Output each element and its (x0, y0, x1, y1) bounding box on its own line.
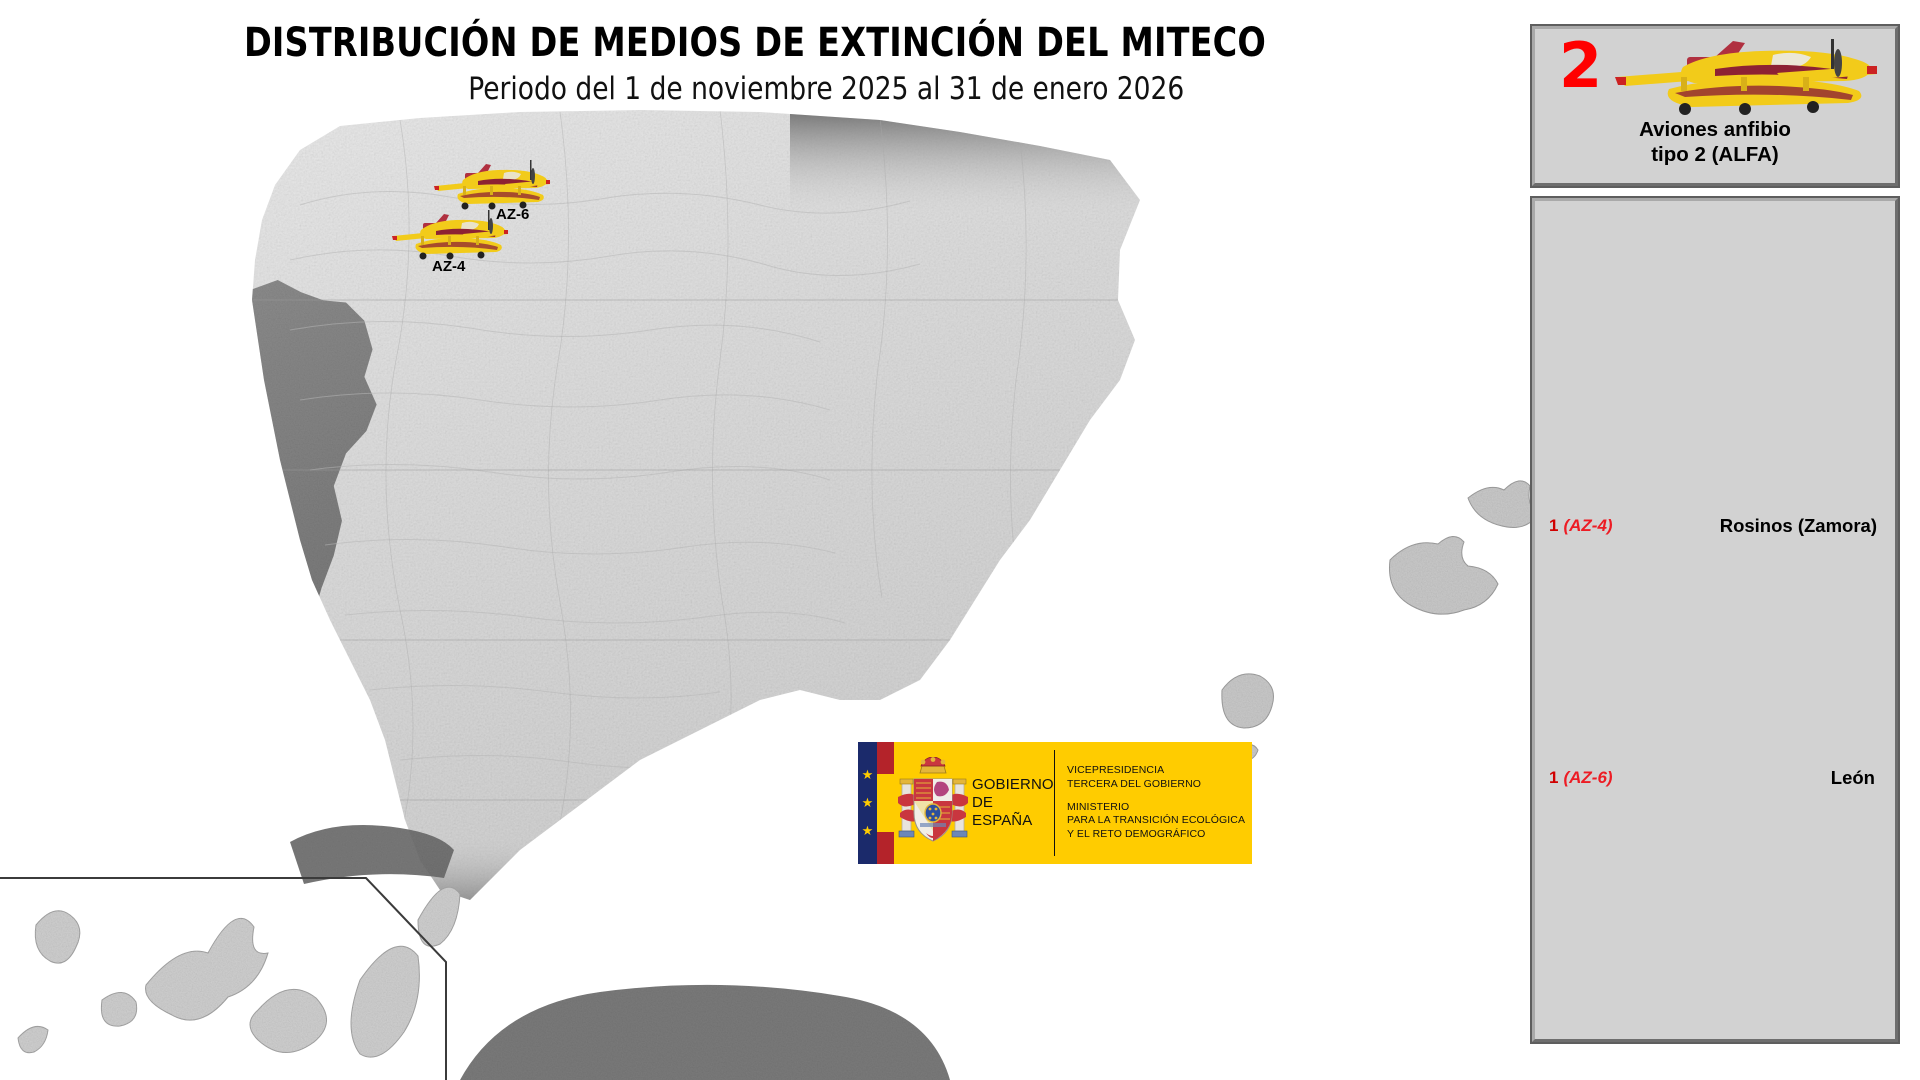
logo-gobierno-line1: GOBIERNO (972, 776, 1054, 794)
legend-row-qty: 1 (1549, 768, 1558, 788)
gobierno-de-espana-logo: ★ ★ ★ (858, 742, 1252, 864)
logo-vice-line2: TERCERA DEL GOBIERNO (1067, 778, 1252, 792)
legend-header-title: Aviones anfibio tipo 2 (ALFA) (1545, 117, 1885, 167)
map-canvas[interactable]: DISTRIBUCIÓN DE MEDIOS DE EXTINCIÓN DEL … (0, 0, 1530, 1080)
legend-row[interactable]: 1 (AZ-4) Rosinos (Zamora) (1535, 511, 1895, 541)
legend-title-line1: Aviones anfibio (1545, 117, 1885, 142)
iberia-relief-map (0, 0, 1530, 1080)
map-marker-label: AZ-4 (432, 258, 465, 275)
map-marker-az-4[interactable]: AZ-4 (388, 208, 508, 270)
logo-min-line2: PARA LA TRANSICIÓN ECOLÓGICA (1067, 814, 1252, 828)
logo-ministry-text: VICEPRESIDENCIA TERCERA DEL GOBIERNO MIN… (1055, 742, 1252, 864)
page-title: DISTRIBUCIÓN DE MEDIOS DE EXTINCIÓN DEL … (53, 22, 1457, 65)
logo-vice-line1: VICEPRESIDENCIA (1067, 764, 1252, 778)
logo-min-line3: Y EL RETO DEMOGRÁFICO (1067, 828, 1252, 842)
poster-root: DISTRIBUCIÓN DE MEDIOS DE EXTINCIÓN DEL … (0, 0, 1920, 1080)
legend-title-line2: tipo 2 (ALFA) (1545, 142, 1885, 167)
logo-gobierno-text: GOBIERNO DE ESPAÑA (972, 742, 1054, 864)
legend-row-code: (AZ-6) (1563, 768, 1612, 788)
legend-row-base: León (1613, 767, 1881, 789)
legend-header-box: 2 (1532, 26, 1898, 186)
amphibious-plane-icon (1607, 39, 1879, 115)
spain-eu-flag-icon: ★ ★ ★ (858, 742, 894, 864)
legend-panel: 2 (1532, 26, 1898, 1042)
legend-total-count: 2 (1559, 35, 1602, 97)
legend-row-qty: 1 (1549, 516, 1558, 536)
legend-row-code: (AZ-4) (1563, 516, 1612, 536)
coat-of-arms-icon (894, 742, 972, 864)
legend-row[interactable]: 1 (AZ-6) León (1535, 763, 1895, 793)
page-subtitle: Periodo del 1 de noviembre 2025 al 31 de… (38, 71, 1473, 107)
logo-min-line1: MINISTERIO (1067, 801, 1252, 815)
legend-body-box: 1 (AZ-4) Rosinos (Zamora) 1 (AZ-6) León (1532, 198, 1898, 1042)
title-block: DISTRIBUCIÓN DE MEDIOS DE EXTINCIÓN DEL … (0, 22, 1510, 107)
logo-gobierno-line2: DE ESPAÑA (972, 794, 1054, 829)
legend-row-base: Rosinos (Zamora) (1613, 515, 1881, 537)
